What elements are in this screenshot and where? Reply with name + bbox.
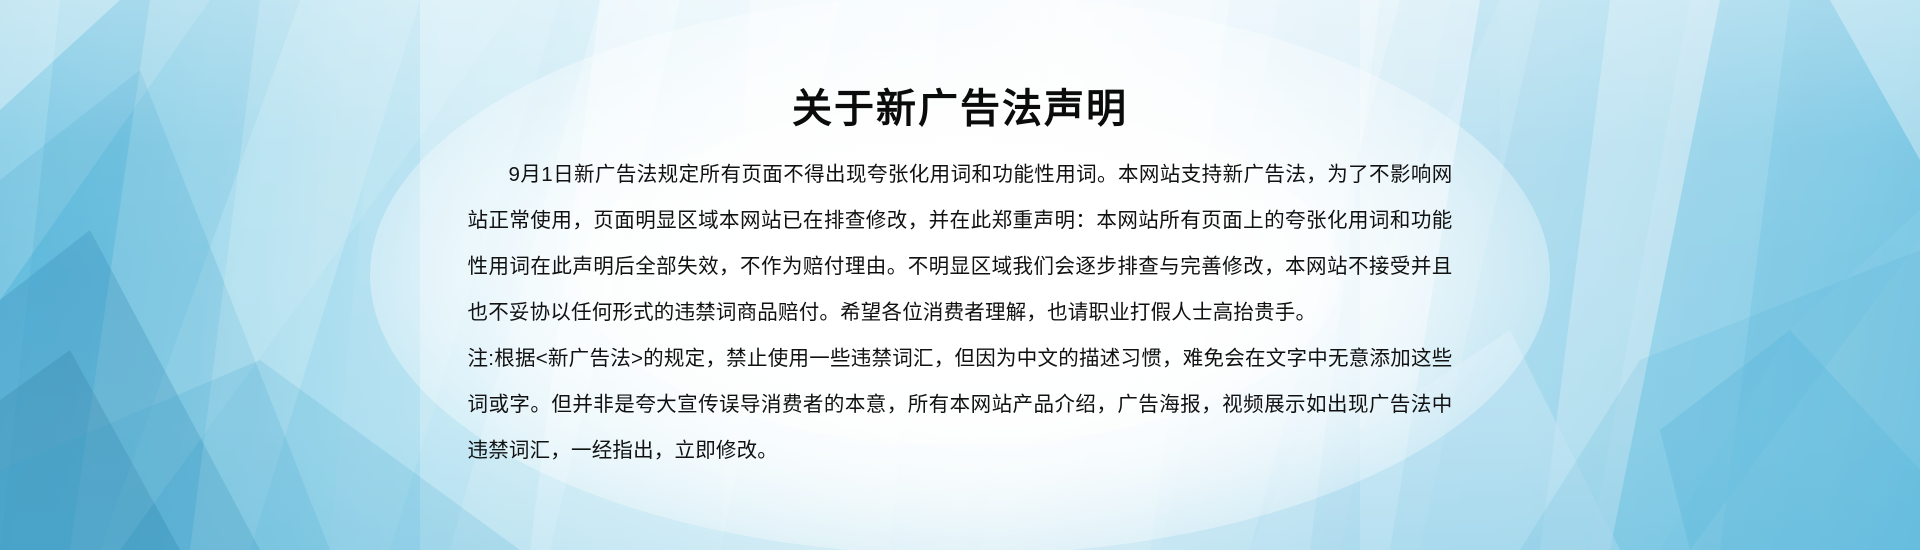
statement-paragraph-2: 注:根据<新广告法>的规定，禁止使用一些违禁词汇，但因为中文的描述习惯，难免会在… <box>468 336 1453 474</box>
statement-body: 9月1日新广告法规定所有页面不得出现夸张化用词和功能性用词。本网站支持新广告法，… <box>468 152 1453 474</box>
statement-content: 关于新广告法声明 9月1日新广告法规定所有页面不得出现夸张化用词和功能性用词。本… <box>0 0 1920 550</box>
statement-paragraph-1: 9月1日新广告法规定所有页面不得出现夸张化用词和功能性用词。本网站支持新广告法，… <box>468 152 1453 336</box>
page-title: 关于新广告法声明 <box>792 86 1128 132</box>
advertising-law-statement-banner: 关于新广告法声明 9月1日新广告法规定所有页面不得出现夸张化用词和功能性用词。本… <box>0 0 1920 550</box>
